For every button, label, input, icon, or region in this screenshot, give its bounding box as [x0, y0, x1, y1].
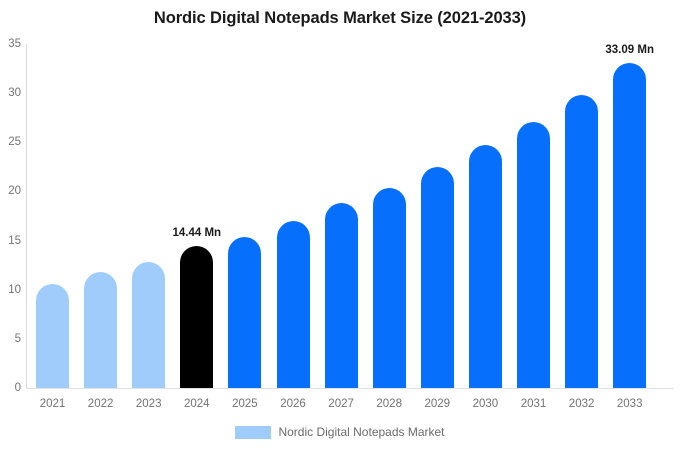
bar-chart: Nordic Digital Notepads Market Size (202… [0, 0, 680, 450]
bar-2027[interactable] [325, 203, 358, 388]
bar-group[interactable] [421, 44, 454, 388]
y-axis-tick-label: 10 [1, 284, 21, 296]
bar-group[interactable] [180, 44, 213, 388]
bar-2025[interactable] [228, 237, 261, 388]
y-axis-tick-labels: 05101520253035 [0, 0, 21, 450]
bar-group[interactable] [228, 44, 261, 388]
y-axis-tick-label: 0 [1, 382, 21, 394]
plot-area [26, 44, 674, 388]
bar-2022[interactable] [84, 272, 117, 388]
y-axis-tick-label: 5 [1, 333, 21, 345]
bar-2032[interactable] [565, 95, 598, 388]
bar-group[interactable] [84, 44, 117, 388]
legend-label-nordic-digital-notepads-market: Nordic Digital Notepads Market [278, 425, 444, 439]
bar-2029[interactable] [421, 167, 454, 388]
y-axis-tick-label: 15 [1, 235, 21, 247]
chart-legend: Nordic Digital Notepads Market [0, 425, 680, 439]
bar-2024[interactable] [180, 246, 213, 388]
y-axis-tick-label: 25 [1, 136, 21, 148]
bar-group[interactable] [469, 44, 502, 388]
bar-2026[interactable] [277, 221, 310, 388]
bar-2023[interactable] [132, 262, 165, 388]
y-axis-tick-label: 35 [1, 38, 21, 50]
bar-2028[interactable] [373, 188, 406, 389]
x-axis-line [26, 388, 674, 389]
bar-2033[interactable] [613, 63, 646, 388]
bar-group[interactable] [132, 44, 165, 388]
chart-title: Nordic Digital Notepads Market Size (202… [0, 9, 680, 28]
bar-group[interactable] [517, 44, 550, 388]
y-axis-tick-label: 30 [1, 87, 21, 99]
x-axis-tick-label-2033: 2033 [600, 398, 660, 410]
bar-value-label-2033: 33.09 Mn [585, 44, 675, 56]
bar-group[interactable] [373, 44, 406, 388]
bar-value-label-2024: 14.44 Mn [152, 227, 242, 239]
bar-group[interactable] [277, 44, 310, 388]
bar-group[interactable] [36, 44, 69, 388]
bar-group[interactable] [565, 44, 598, 388]
bar-2031[interactable] [517, 122, 550, 388]
bar-2030[interactable] [469, 145, 502, 388]
y-axis-tick-label: 20 [1, 185, 21, 197]
bar-2021[interactable] [36, 284, 69, 388]
legend-swatch-nordic-digital-notepads-market [235, 426, 271, 439]
bar-group[interactable] [613, 44, 646, 388]
bar-group[interactable] [325, 44, 358, 388]
